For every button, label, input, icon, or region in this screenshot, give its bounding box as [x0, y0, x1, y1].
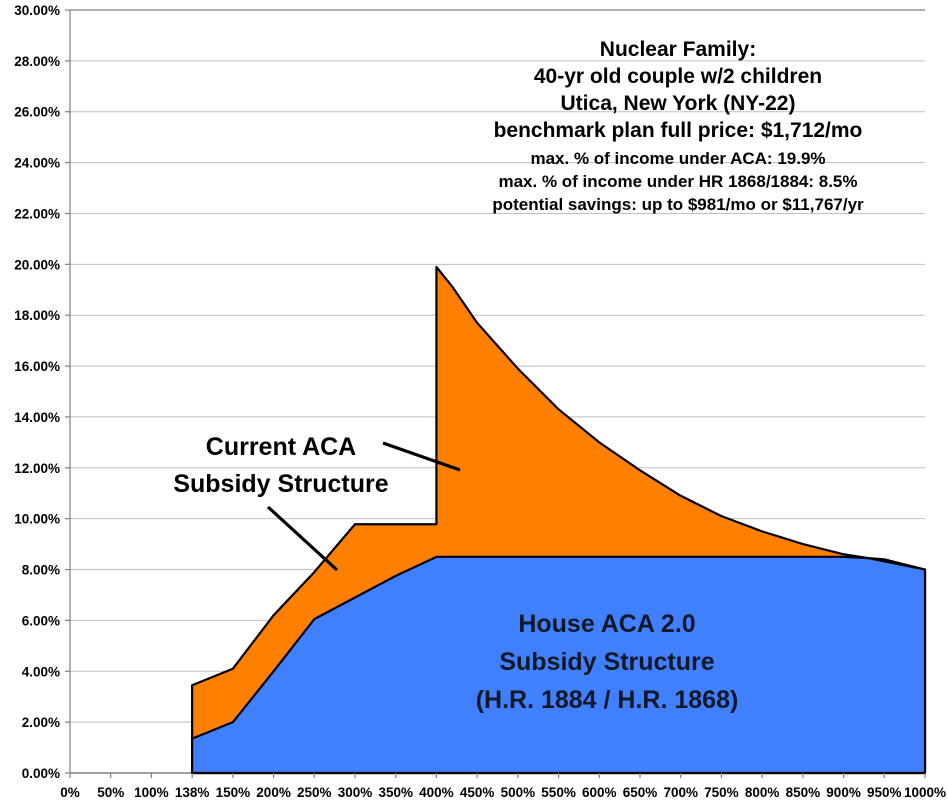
x-tick-label: 200%: [256, 785, 291, 800]
y-tick-label: 12.00%: [14, 461, 60, 476]
y-tick-label: 14.00%: [14, 410, 60, 425]
y-tick-label: 6.00%: [22, 613, 60, 628]
y-tick-label: 24.00%: [14, 156, 60, 171]
x-tick-label: 1000%: [904, 785, 946, 800]
x-tick-label: 900%: [826, 785, 861, 800]
x-tick-label: 138%: [175, 785, 210, 800]
y-tick-label: 2.00%: [22, 715, 60, 730]
info-box-line: benchmark plan full price: $1,712/mo: [494, 119, 863, 142]
area-chart: 0.00%2.00%4.00%6.00%8.00%10.00%12.00%14.…: [0, 0, 947, 809]
x-tick-label: 800%: [745, 785, 780, 800]
x-tick-label: 600%: [582, 785, 617, 800]
y-axis-tick-labels: 0.00%2.00%4.00%6.00%8.00%10.00%12.00%14.…: [14, 3, 60, 781]
x-tick-label: 100%: [134, 785, 169, 800]
x-tick-label: 350%: [378, 785, 413, 800]
x-tick-label: 850%: [786, 785, 821, 800]
current-aca-label-line1: Current ACA: [206, 433, 356, 461]
y-tick-label: 16.00%: [14, 359, 60, 374]
info-box-line: potential savings: up to $981/mo or $11,…: [492, 195, 864, 214]
info-box-line: 40-yr old couple w/2 children: [534, 65, 822, 88]
x-tick-label: 500%: [501, 785, 536, 800]
y-tick-label: 30.00%: [14, 3, 60, 18]
annotation-info-box: Nuclear Family:40-yr old couple w/2 chil…: [492, 38, 864, 214]
y-tick-label: 4.00%: [22, 664, 60, 679]
current-aca-label-line2: Subsidy Structure: [173, 470, 388, 498]
x-tick-label: 650%: [623, 785, 658, 800]
y-tick-label: 22.00%: [14, 206, 60, 221]
y-tick-label: 10.00%: [14, 512, 60, 527]
y-tick-label: 26.00%: [14, 105, 60, 120]
series-label-current-aca: Current ACASubsidy Structure: [173, 433, 388, 498]
x-tick-label: 750%: [704, 785, 739, 800]
x-tick-label: 250%: [297, 785, 332, 800]
house-aca-label-line2: Subsidy Structure: [499, 648, 714, 676]
leader-line-lower: [268, 507, 337, 570]
info-box-line: max. % of income under HR 1868/1884: 8.5…: [498, 172, 857, 191]
x-tick-label: 400%: [419, 785, 454, 800]
house-aca-label-line3: (H.R. 1884 / H.R. 1868): [476, 686, 739, 714]
x-tick-label: 0%: [60, 785, 80, 800]
x-axis-tick-labels: 0%50%100%138%150%200%250%300%350%400%450…: [60, 785, 946, 800]
info-box-line: Nuclear Family:: [600, 38, 756, 61]
house-aca-label-line1: House ACA 2.0: [518, 610, 695, 638]
y-tick-label: 0.00%: [22, 766, 60, 781]
x-tick-label: 450%: [460, 785, 495, 800]
x-tick-label: 550%: [541, 785, 576, 800]
y-tick-label: 8.00%: [22, 563, 60, 578]
y-tick-label: 28.00%: [14, 54, 60, 69]
x-tick-label: 950%: [867, 785, 902, 800]
x-tick-label: 150%: [216, 785, 251, 800]
y-tick-label: 20.00%: [14, 257, 60, 272]
y-tick-label: 18.00%: [14, 308, 60, 323]
info-box-line: Utica, New York (NY-22): [561, 92, 796, 115]
x-tick-label: 300%: [338, 785, 373, 800]
info-box-line: max. % of income under ACA: 19.9%: [530, 149, 825, 168]
x-tick-label: 50%: [97, 785, 124, 800]
chart-container: 0.00%2.00%4.00%6.00%8.00%10.00%12.00%14.…: [0, 0, 947, 809]
x-tick-label: 700%: [663, 785, 698, 800]
